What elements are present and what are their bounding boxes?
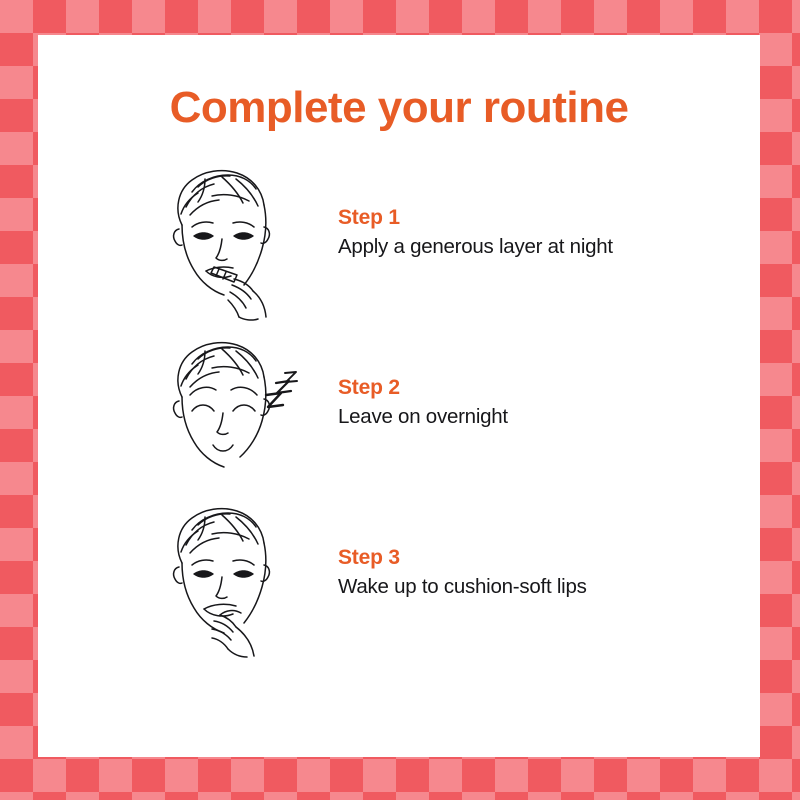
step-row: Step 1 Apply a generous layer at night bbox=[38, 157, 760, 327]
step-text-block: Step 1 Apply a generous layer at night bbox=[338, 205, 738, 261]
step-row: Step 3 Wake up to cushion-soft lips bbox=[38, 497, 760, 667]
step-description: Leave on overnight bbox=[338, 404, 738, 431]
face-touching-lips-icon bbox=[148, 497, 298, 667]
face-applying-lip-balm-icon bbox=[148, 157, 298, 327]
step-label: Step 2 bbox=[338, 375, 738, 401]
step-row: Step 2 Leave on overnight bbox=[38, 327, 760, 497]
step-label: Step 3 bbox=[338, 545, 738, 571]
step-label: Step 1 bbox=[338, 205, 738, 231]
step-text-block: Step 2 Leave on overnight bbox=[338, 375, 738, 431]
step-description: Wake up to cushion-soft lips bbox=[338, 574, 738, 601]
content-card: Complete your routine bbox=[38, 35, 760, 757]
poster-frame: Complete your routine bbox=[0, 0, 800, 800]
sleeping-face-zzz-icon bbox=[148, 327, 298, 497]
page-title: Complete your routine bbox=[38, 83, 760, 133]
step-description: Apply a generous layer at night bbox=[338, 234, 738, 261]
step-text-block: Step 3 Wake up to cushion-soft lips bbox=[338, 545, 738, 601]
